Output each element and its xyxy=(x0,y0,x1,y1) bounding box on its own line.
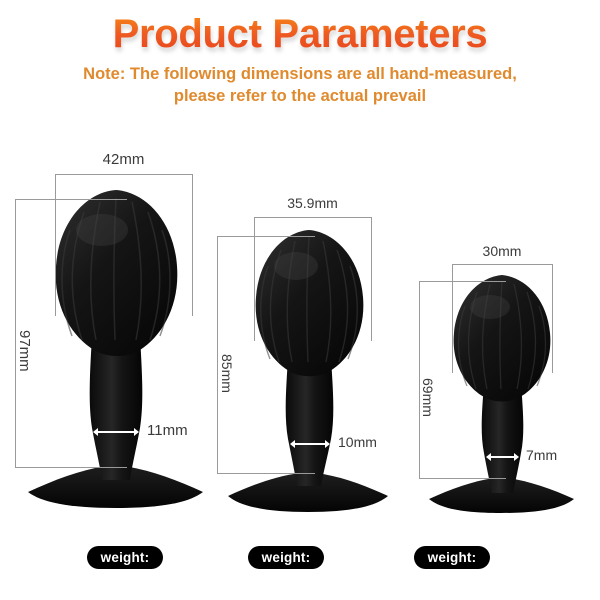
neck-label-large: 11mm xyxy=(147,422,188,439)
width-bracket-top-small xyxy=(452,264,552,265)
width-label-medium: 35.9mm xyxy=(254,195,371,211)
width-bracket-top-medium xyxy=(254,217,371,218)
product-figure-small: 30mm 69mm 7mm xyxy=(418,245,590,550)
weight-badge-medium: weight: 42g xyxy=(248,546,324,569)
height-label-large: 97mm xyxy=(16,330,33,372)
height-label-small: 69mm xyxy=(420,378,436,417)
height-bracket-tick-top-medium xyxy=(217,236,315,237)
width-bracket-tick-left-large xyxy=(55,174,56,316)
product-figures: 42mm 97mm 11mm xyxy=(0,0,600,600)
height-bracket-tick-bottom-large xyxy=(15,467,127,468)
product-figure-large: 42mm 97mm 11mm xyxy=(14,150,224,550)
neck-arrow-head-right-large xyxy=(134,428,139,436)
neck-label-medium: 10mm xyxy=(338,434,377,450)
width-bracket-tick-right-small xyxy=(552,264,553,373)
neck-arrow-head-right-small xyxy=(514,453,519,461)
neck-arrow-shaft-medium xyxy=(294,443,326,445)
height-label-medium: 85mm xyxy=(219,354,235,393)
weight-badge-small: weight: 27g xyxy=(414,546,490,569)
weight-badge-large: weight: 64g xyxy=(87,546,163,569)
width-bracket-tick-right-large xyxy=(192,174,193,316)
width-label-large: 42mm xyxy=(55,151,192,168)
neck-arrow-large xyxy=(93,427,139,436)
width-label-small: 30mm xyxy=(452,243,552,259)
neck-arrow-small xyxy=(486,452,519,461)
width-bracket-tick-right-medium xyxy=(371,217,372,341)
height-bracket-line-medium xyxy=(217,236,218,473)
height-bracket-tick-top-small xyxy=(419,281,506,282)
product-silhouette-medium xyxy=(216,196,402,550)
height-bracket-tick-bottom-small xyxy=(419,478,506,479)
product-silhouette-small xyxy=(418,245,590,550)
neck-label-small: 7mm xyxy=(526,447,557,463)
product-figure-medium: 35.9mm 85mm 10mm xyxy=(216,196,402,550)
height-bracket-tick-bottom-medium xyxy=(217,473,315,474)
neck-arrow-medium xyxy=(290,439,330,448)
height-bracket-tick-top-large xyxy=(15,199,127,200)
neck-arrow-shaft-small xyxy=(490,456,515,458)
neck-arrow-head-right-medium xyxy=(325,440,330,448)
neck-arrow-shaft-large xyxy=(97,431,135,433)
width-bracket-top-large xyxy=(55,174,192,175)
